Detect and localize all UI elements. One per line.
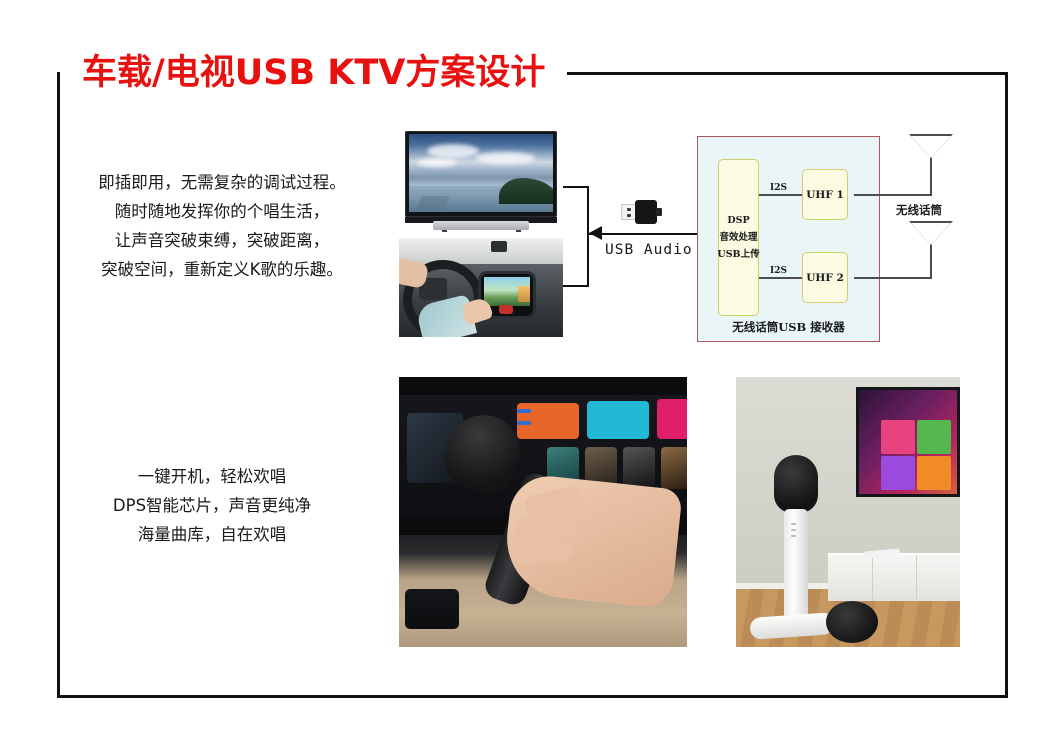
usb-audio-label: USB Audio	[605, 242, 693, 258]
diagram-caption: 无线话筒USB 接收器	[698, 319, 879, 335]
windshield	[399, 238, 563, 264]
mic-in-car-photo	[399, 377, 687, 647]
microphone-button	[791, 535, 796, 537]
i2s-label-2: I2S	[768, 266, 789, 276]
uhf2-block: UHF 2	[802, 252, 848, 303]
screen-record-button	[499, 305, 513, 314]
finger	[515, 513, 579, 541]
dsp-block: DSP 音效处理 USB上传	[718, 159, 759, 316]
i2s-wire-1	[759, 194, 802, 196]
i2s-wire-2	[759, 277, 802, 279]
screen-nav-item	[517, 421, 531, 425]
living-room-mics-photo	[736, 377, 960, 647]
copy-line: 突破空间，重新定义K歌的乐趣。	[62, 255, 382, 284]
usb-connector-metal	[621, 204, 636, 220]
screen-tile	[623, 447, 655, 489]
screen-card-tile	[518, 286, 530, 302]
antenna-stem-1	[930, 156, 932, 196]
feature-copy-top: 即插即用，无需复杂的调试过程。 随时随地发挥你的个唱生活， 让声音突破束缚，突破…	[62, 168, 382, 284]
wireless-mic-label: 无线话筒	[896, 202, 942, 218]
cloud-shape	[417, 158, 457, 167]
copy-line: 一键开机，轻松欢唱	[62, 462, 362, 491]
car-connector-wire	[563, 285, 589, 287]
copy-line: 海量曲库，自在欢唱	[62, 520, 362, 549]
antenna-wire-2	[854, 277, 932, 279]
tv-stand-base	[433, 221, 529, 230]
frame-left-rule	[57, 72, 60, 698]
dsp-label-line2: 音效处理	[719, 229, 757, 246]
copy-line: DPS智能芯片，声音更纯净	[62, 491, 362, 520]
i2s-label-1: I2S	[768, 183, 789, 193]
air-vent	[405, 589, 459, 629]
tv-app-tile	[881, 456, 915, 490]
cabinet-seam	[916, 555, 917, 601]
frame-right-rule	[1005, 72, 1008, 698]
usb-audio-wire	[589, 233, 700, 235]
usb-connector-housing	[635, 200, 657, 224]
arrow-left-icon	[589, 226, 602, 240]
tv-app-tile	[881, 420, 915, 454]
finger	[512, 540, 572, 562]
dsp-label-line3: USB上传	[717, 246, 759, 263]
microphone-foam-head	[826, 601, 878, 643]
cabinet-seam	[872, 555, 873, 601]
frame-bottom-rule	[57, 695, 1008, 698]
usb-plug-icon	[621, 200, 661, 224]
page-title: 车载/电视USB KTV方案设计	[82, 44, 545, 95]
car-interior-photo	[399, 238, 563, 337]
antenna-icon	[909, 221, 953, 245]
screen-tile	[587, 401, 649, 439]
finger	[523, 485, 584, 519]
screen-tile	[661, 447, 687, 489]
microphone-button	[791, 529, 796, 531]
tv-cabinet	[828, 553, 960, 601]
slide-canvas: 车载/电视USB KTV方案设计 即插即用，无需复杂的调试过程。 随时随地发挥你…	[0, 0, 1061, 749]
rearview-mirror	[491, 241, 507, 252]
tv-app-tile	[917, 420, 951, 454]
tv-chassis	[405, 131, 557, 217]
screen-nav-item	[517, 409, 531, 413]
microphone-button	[791, 523, 796, 525]
microphone-foam-head	[774, 455, 818, 513]
wall-tv	[856, 387, 960, 497]
cloud-shape	[427, 144, 479, 158]
antenna-icon	[909, 134, 953, 158]
copy-line: 随时随地发挥你的个唱生活，	[62, 197, 382, 226]
tv-screen-image	[409, 134, 553, 212]
antenna-stem-2	[930, 243, 932, 279]
usb-contact-dot	[627, 208, 631, 211]
copy-line: 即插即用，无需复杂的调试过程。	[62, 168, 382, 197]
tv-connector-wire	[563, 186, 589, 188]
hill-shape	[499, 178, 553, 204]
usb-contact-dot	[627, 214, 631, 217]
copy-line: 让声音突破束缚，突破距离，	[62, 226, 382, 255]
dsp-label-line1: DSP	[727, 212, 749, 229]
microphone-buttons	[791, 523, 800, 549]
tv-photo	[399, 127, 563, 234]
frame-top-rule	[567, 72, 1008, 75]
cloud-shape	[475, 152, 535, 164]
tv-app-tile	[917, 456, 951, 490]
antenna-wire-1	[854, 194, 932, 196]
feature-copy-bottom: 一键开机，轻松欢唱 DPS智能芯片，声音更纯净 海量曲库，自在欢唱	[62, 462, 362, 549]
receiver-block-diagram: DSP 音效处理 USB上传 I2S I2S UHF 1 UHF 2 无线话筒U…	[697, 136, 880, 342]
usb-cable-tail	[656, 208, 662, 216]
uhf1-block: UHF 1	[802, 169, 848, 220]
screen-tile	[657, 399, 687, 439]
